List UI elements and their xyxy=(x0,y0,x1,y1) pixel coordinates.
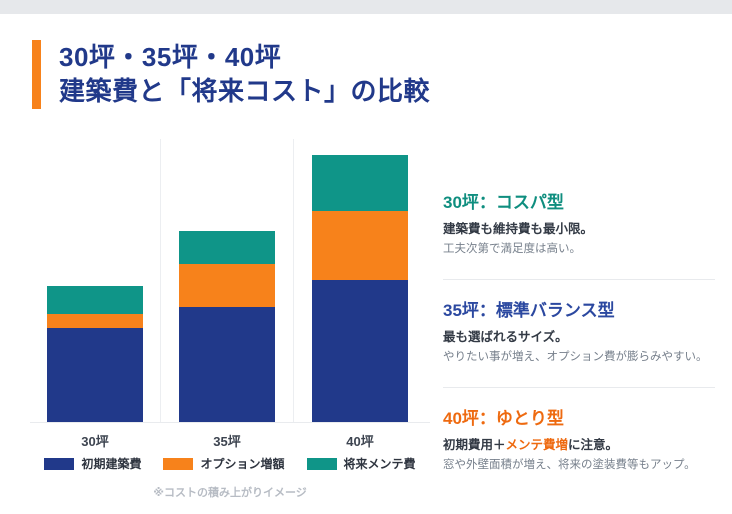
summary-heading-35: 35坪：標準バランス型 xyxy=(443,300,715,322)
summary-sub-35: 最も選ばれるサイズ。 xyxy=(443,328,715,346)
summary-sub-30: 建築費も維持費も最小限。 xyxy=(443,220,715,238)
bar-segment-maint-30[interactable] xyxy=(47,286,143,314)
bar-segment-base-35[interactable] xyxy=(179,307,275,422)
bar-segment-base-30[interactable] xyxy=(47,328,143,422)
summary-divider-2 xyxy=(443,387,715,388)
title-lines: 30坪・35坪・40坪 建築費と「将来コスト」の比較 xyxy=(59,40,430,109)
legend-item-option[interactable]: オプション増額 xyxy=(163,455,284,472)
summary-detail-30: 工夫次第で満足度は高い。 xyxy=(443,241,715,258)
summary-detail-35: やりたい事が増え、オプション費が膨らみやすい。 xyxy=(443,349,715,366)
summary-block-35: 35坪：標準バランス型 最も選ばれるサイズ。 やりたい事が増え、オプション費が膨… xyxy=(443,300,715,388)
chart-x-axis-labels: 30坪 35坪 40坪 xyxy=(30,431,430,453)
summary-block-30: 30坪：コスパ型 建築費も維持費も最小限。 工夫次第で満足度は高い。 xyxy=(443,192,715,280)
summary-sub-highlight-40: メンテ費増 xyxy=(506,438,569,452)
summary-sub-prefix-40: 初期費用＋ xyxy=(443,438,506,452)
bar-segment-option-40[interactable] xyxy=(312,211,408,280)
legend-swatch-option xyxy=(163,458,193,470)
legend-swatch-maint xyxy=(307,458,337,470)
page-title: 30坪・35坪・40坪 建築費と「将来コスト」の比較 xyxy=(32,40,430,109)
legend-label-option: オプション増額 xyxy=(200,455,284,472)
stacked-bar-chart: 30坪 35坪 40坪 xyxy=(30,139,430,449)
chart-footnote: ※コストの積み上がりイメージ xyxy=(30,484,430,500)
x-axis-label-40: 40坪 xyxy=(312,431,408,450)
summary-sub-40: 初期費用＋メンテ費増に注意。 xyxy=(443,436,715,454)
summary-heading-30: 30坪：コスパ型 xyxy=(443,192,715,214)
summary-sub-text-35: 最も選ばれるサイズ。 xyxy=(443,330,568,344)
bar-group-35[interactable] xyxy=(179,231,275,422)
x-axis-label-30: 30坪 xyxy=(47,431,143,450)
title-accent-bar xyxy=(32,40,41,109)
summary-heading-40: 40坪：ゆとり型 xyxy=(443,408,715,430)
legend-label-base: 初期建築費 xyxy=(81,455,141,472)
bar-segment-base-40[interactable] xyxy=(312,280,408,422)
title-line-1: 30坪・35坪・40坪 xyxy=(59,40,430,74)
legend-swatch-base xyxy=(44,458,74,470)
legend-item-maint[interactable]: 将来メンテ費 xyxy=(307,455,416,472)
legend-item-base[interactable]: 初期建築費 xyxy=(44,455,141,472)
summary-detail-40: 窓や外壁面積が増え、将来の塗装費等もアップ。 xyxy=(443,457,715,474)
bar-segment-maint-40[interactable] xyxy=(312,155,408,211)
bar-group-40[interactable] xyxy=(312,155,408,422)
chart-legend: 初期建築費 オプション増額 将来メンテ費 xyxy=(30,455,430,472)
x-axis-label-35: 35坪 xyxy=(179,431,275,450)
chart-baseline-axis xyxy=(30,422,430,423)
bar-segment-maint-35[interactable] xyxy=(179,231,275,264)
summary-block-40: 40坪：ゆとり型 初期費用＋メンテ費増に注意。 窓や外壁面積が増え、将来の塗装費… xyxy=(443,408,715,474)
bar-segment-option-30[interactable] xyxy=(47,314,143,328)
summary-panel: 30坪：コスパ型 建築費も維持費も最小限。 工夫次第で満足度は高い。 35坪：標… xyxy=(443,192,715,474)
summary-sub-text-30: 建築費も維持費も最小限。 xyxy=(443,222,593,236)
summary-divider-1 xyxy=(443,279,715,280)
page-root: 30坪・35坪・40坪 建築費と「将来コスト」の比較 xyxy=(0,0,732,514)
title-line-2: 建築費と「将来コスト」の比較 xyxy=(59,74,430,108)
chart-gridline-1 xyxy=(160,139,161,423)
legend-label-maint: 将来メンテ費 xyxy=(344,455,416,472)
summary-sub-suffix-40: に注意。 xyxy=(568,438,618,452)
bar-group-30[interactable] xyxy=(47,286,143,422)
chart-plot-area xyxy=(30,139,430,422)
chart-gridline-2 xyxy=(293,139,294,423)
bar-segment-option-35[interactable] xyxy=(179,264,275,307)
content-card: 30坪・35坪・40坪 建築費と「将来コスト」の比較 xyxy=(0,14,732,514)
